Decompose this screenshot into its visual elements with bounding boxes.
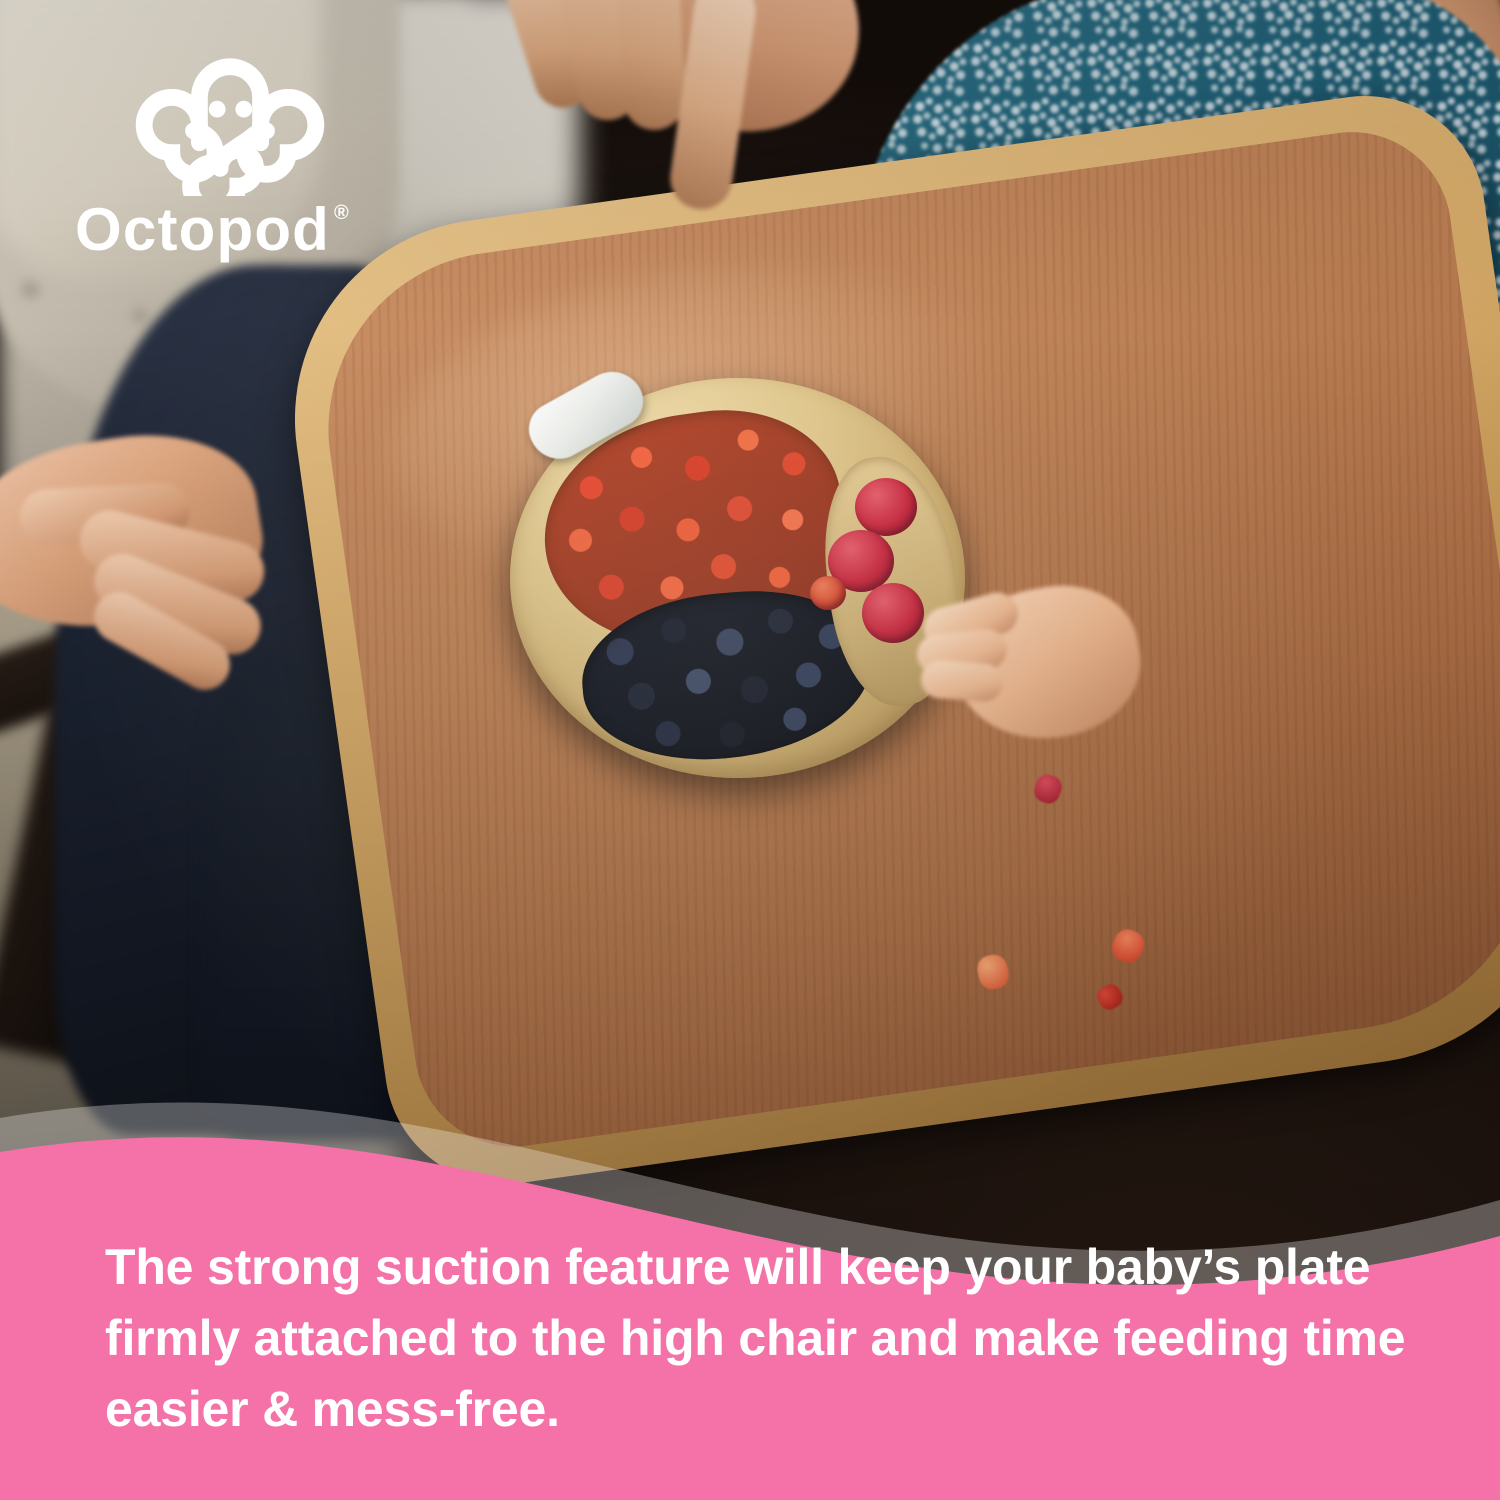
caption-text: The strong suction feature will keep you… bbox=[105, 1232, 1420, 1445]
caption-line-1: The strong suction feature will keep you… bbox=[105, 1232, 1420, 1303]
finger bbox=[615, 0, 687, 131]
brand-logo: Octopod ® bbox=[75, 48, 405, 260]
logo-eye-left bbox=[209, 101, 226, 118]
baby-hand bbox=[915, 560, 1165, 760]
adult-hand-pointing bbox=[470, 0, 890, 270]
logo-eye-right bbox=[235, 101, 252, 118]
bamboo-suction-plate bbox=[510, 378, 965, 778]
caption-line-3: easier & mess-free. bbox=[105, 1374, 1420, 1445]
registered-trademark-icon: ® bbox=[334, 202, 349, 225]
strawberry-piece bbox=[810, 576, 846, 610]
product-marketing-image: Octopod ® The strong suction feature wil… bbox=[0, 0, 1500, 1500]
finger bbox=[920, 659, 1004, 703]
adult-hand-open bbox=[0, 400, 320, 700]
raspberry bbox=[855, 478, 917, 536]
caption-line-2: firmly attached to the high chair and ma… bbox=[105, 1303, 1420, 1374]
octopus-logo-icon bbox=[130, 48, 330, 196]
brand-wordmark: Octopod bbox=[75, 200, 330, 260]
